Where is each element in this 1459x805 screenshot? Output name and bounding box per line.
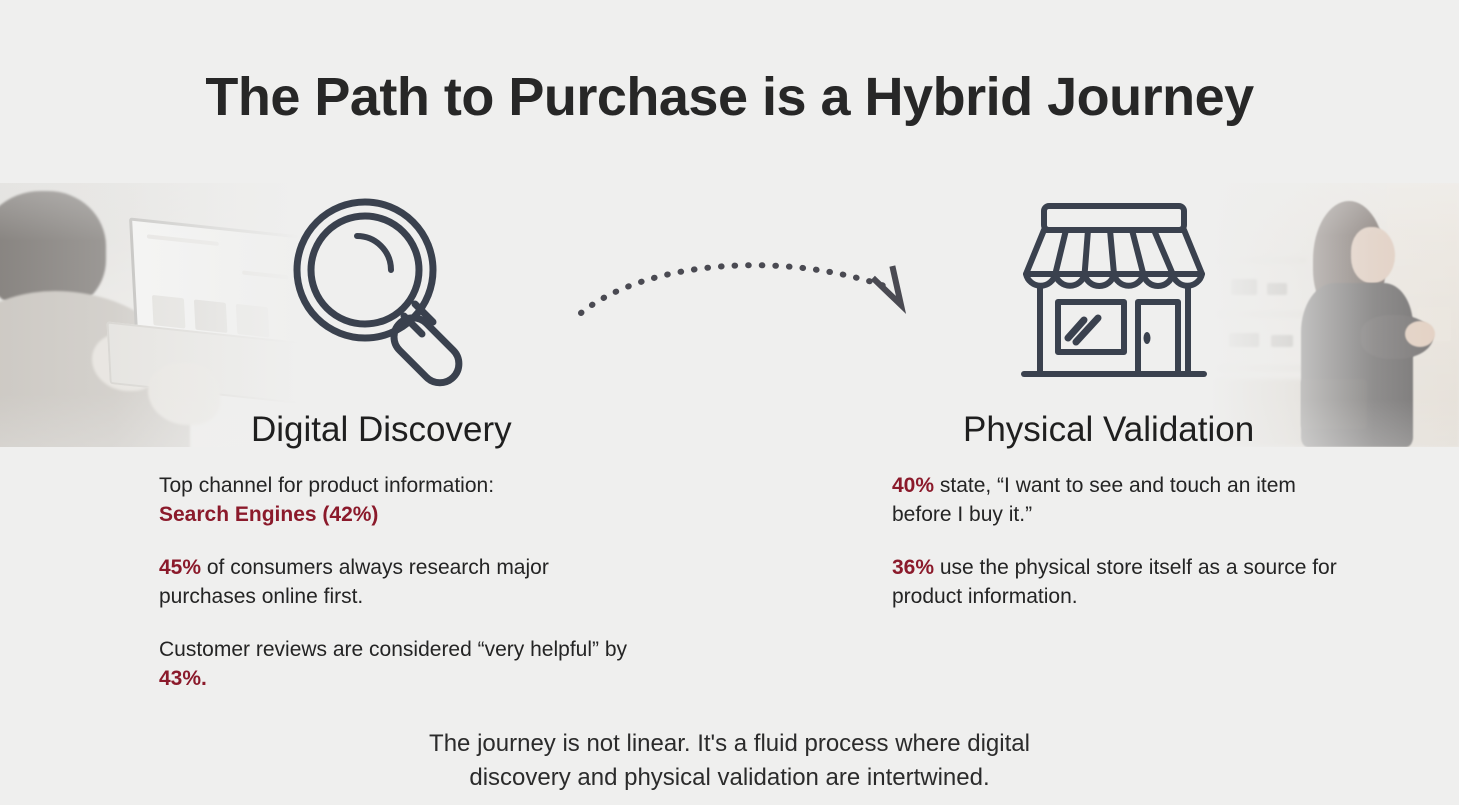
- fact-highlight: Search Engines (42%): [159, 503, 378, 526]
- fact-item: 45% of consumers always research major p…: [159, 554, 639, 612]
- fact-lead: Customer reviews are considered “very he…: [159, 638, 627, 661]
- column-digital-discovery: Top channel for product information: Sea…: [159, 472, 639, 694]
- fact-highlight: 36%: [892, 556, 934, 579]
- fact-highlight: 43%.: [159, 667, 207, 690]
- photo-physical-validation: [1209, 183, 1459, 447]
- section-heading-physical-validation: Physical Validation: [963, 410, 1254, 450]
- storefront-icon: [1016, 196, 1212, 388]
- magnifier-icon: [285, 190, 495, 390]
- column-physical-validation: 40% state, “I want to see and touch an i…: [892, 472, 1342, 612]
- fact-highlight: 45%: [159, 556, 201, 579]
- fact-rest: of consumers always research major purch…: [159, 556, 549, 608]
- fact-rest: use the physical store itself as a sourc…: [892, 556, 1337, 608]
- footer-caption: The journey is not linear. It's a fluid …: [0, 727, 1459, 795]
- page-title: The Path to Purchase is a Hybrid Journey: [0, 68, 1459, 127]
- fact-highlight: 40%: [892, 474, 934, 497]
- fact-lead: Top channel for product information:: [159, 474, 494, 497]
- fact-item: Top channel for product information: Sea…: [159, 472, 639, 530]
- footer-line-2: discovery and physical validation are in…: [469, 764, 989, 791]
- photo-digital-discovery: [0, 183, 300, 447]
- dotted-curved-arrow-icon: [575, 245, 920, 330]
- footer-line-1: The journey is not linear. It's a fluid …: [429, 730, 1030, 757]
- fact-item: 40% state, “I want to see and touch an i…: [892, 472, 1342, 530]
- fact-item: Customer reviews are considered “very he…: [159, 636, 639, 694]
- fact-rest: state, “I want to see and touch an item …: [892, 474, 1296, 526]
- fact-item: 36% use the physical store itself as a s…: [892, 554, 1342, 612]
- section-heading-digital-discovery: Digital Discovery: [251, 410, 512, 450]
